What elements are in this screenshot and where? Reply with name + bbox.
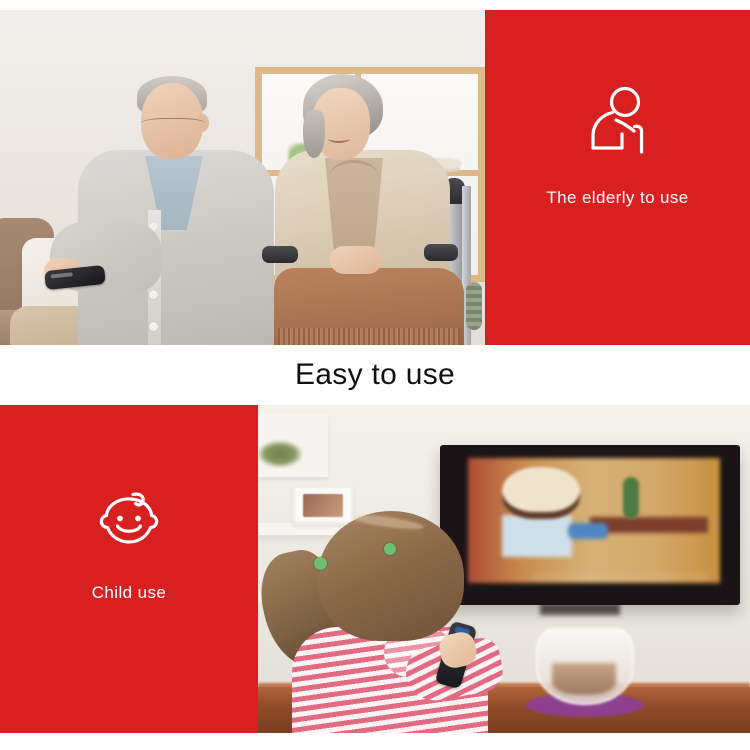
- elderly-caption: The elderly to use: [546, 188, 688, 208]
- elderly-feature-panel: The elderly to use: [485, 10, 750, 345]
- child-feature-panel: Child use: [0, 405, 258, 733]
- tv-cartoon-toy: [568, 523, 608, 539]
- elderly-woman-hair-side: [303, 110, 325, 158]
- tv-cartoon-cactus: [623, 477, 639, 519]
- wall-mounted-television: [440, 445, 740, 605]
- cardigan-button: [149, 290, 158, 299]
- hair-tie-left: [314, 557, 327, 570]
- bottom-section: Child use: [0, 405, 750, 733]
- elderly-couple-watching-tv-photo: [0, 10, 485, 345]
- shelf-plant: [258, 441, 302, 467]
- wheelchair-armrest-left: [262, 246, 298, 263]
- wheelchair-wheel-grip: [466, 282, 482, 330]
- blanket-fringe: [278, 328, 460, 345]
- child-caption: Child use: [92, 583, 166, 603]
- baby-face-icon: [89, 477, 169, 557]
- eyeglasses: [140, 118, 206, 132]
- infographic-canvas: The elderly to use Easy to use Child use: [0, 0, 750, 750]
- girl-hair: [318, 511, 464, 641]
- fishbowl-contents: [552, 663, 616, 695]
- tv-screen-glare: [530, 573, 710, 581]
- picture-frame: [292, 485, 354, 525]
- top-section: The elderly to use: [0, 10, 750, 345]
- tv-cartoon-character-body: [502, 515, 572, 557]
- wheelchair-armrest-right: [424, 244, 458, 261]
- elderly-woman-smile: [328, 134, 350, 143]
- elderly-person-with-cane-icon: [578, 82, 658, 162]
- child-watching-tv-photo: [258, 405, 750, 733]
- page-headline: Easy to use: [295, 358, 455, 392]
- elderly-woman-hands: [330, 246, 382, 274]
- cardigan-button: [149, 322, 158, 331]
- middle-headline-band: Easy to use: [0, 345, 750, 405]
- hair-tie-right: [384, 543, 396, 555]
- tv-cartoon-character-head: [502, 467, 580, 519]
